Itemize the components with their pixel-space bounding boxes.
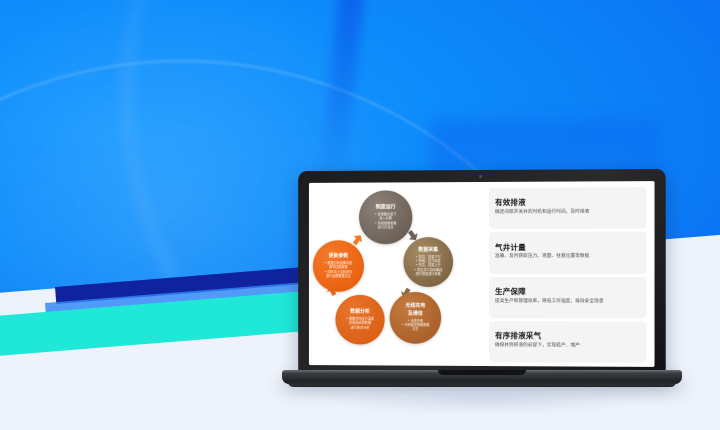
slide-content: 制度运行 • 多参数约束下 放入井筒 • 系统按照参数 进行开关井 数据采集 bbox=[309, 181, 655, 367]
diagram-node-data-collection[interactable]: 数据采集 • 关井、控量下沉 • 停喷、压力恢复 • 开井、控量上升 • 到达井… bbox=[403, 237, 453, 287]
card-description: 提高生产和管理效率，降低工作强度，排除安全隐患 bbox=[495, 299, 640, 306]
node-title: 制度运行 bbox=[376, 205, 396, 211]
diagram-node-data-analysis[interactable]: 数据分析 • 根据井内压力温度 和液面运算数据 进行综合分析 bbox=[335, 295, 384, 345]
card-description: 确定间歇开关井的时机和运行时间，及时排液 bbox=[495, 210, 640, 217]
node-title: 数据分析 bbox=[350, 310, 370, 316]
laptop-screen-bezel: 制度运行 • 多参数约束下 放入井筒 • 系统按照参数 进行开关井 数据采集 bbox=[298, 169, 666, 377]
node-title: 数据采集 bbox=[418, 248, 438, 254]
node-item: 交互 bbox=[401, 327, 429, 331]
diagram-node-update-parameters[interactable]: 更新参数 • 根据分析结果动态 调节控制参数 • 同时向上位机软件 进行远程数据… bbox=[313, 240, 364, 292]
node-items: • 根据井内压力温度 和液面运算数据 进行综合分析 bbox=[346, 317, 374, 330]
benefit-card-effective-drainage[interactable]: 有效排液 确定间歇开关井的时机和运行时间，及时排液 bbox=[489, 187, 646, 229]
benefit-card-production-assurance[interactable]: 生产保障 提高生产和管理效率，降低工作强度，排除安全隐患 bbox=[489, 277, 646, 319]
node-items: • 关井、控量下沉 • 停喷、压力恢复 • 开井、控量上升 • 到达井口自动离线… bbox=[414, 255, 442, 277]
node-item: 调节控制参数 bbox=[324, 265, 352, 269]
benefit-card-orderly-drainage-gas-production[interactable]: 有序排液采气 确保井筒积液的前提下，实现稳产、增产 bbox=[489, 321, 646, 363]
webcam-icon bbox=[479, 175, 482, 178]
node-title: 无线充电 bbox=[405, 304, 425, 310]
node-items: • 根据分析结果动态 调节控制参数 • 同时向上位机软件 进行远程数据交互 bbox=[324, 261, 352, 278]
node-title-line2: 及通信 bbox=[408, 311, 423, 317]
node-item: 进行开关井 bbox=[375, 225, 397, 229]
diagram-node-wireless-charging[interactable]: 无线充电 及通信 • 无线充电 • 与地面控制器数据 交互 bbox=[390, 292, 442, 344]
benefit-card-gas-well-metering[interactable]: 气井计量 准确、及时获取压力、液面、柱塞位置等数据 bbox=[489, 232, 646, 274]
diagram-node-system-operation[interactable]: 制度运行 • 多参数约束下 放入井筒 • 系统按照参数 进行开关井 bbox=[359, 190, 412, 244]
banner-stage: 制度运行 • 多参数约束下 放入井筒 • 系统按照参数 进行开关井 数据采集 bbox=[0, 0, 720, 430]
node-items: • 多参数约束下 放入井筒 • 系统按照参数 进行开关井 bbox=[375, 212, 397, 229]
node-item: 进行综合分析 bbox=[346, 325, 374, 329]
node-item: 进行排液进行采集 bbox=[414, 272, 442, 276]
laptop-reflection bbox=[322, 388, 642, 414]
node-item: 进行远程数据交互 bbox=[324, 274, 352, 278]
laptop-display: 制度运行 • 多参数约束下 放入井筒 • 系统按照参数 进行开关井 数据采集 bbox=[309, 181, 655, 367]
node-title: 更新参数 bbox=[329, 254, 349, 260]
laptop-base-foot bbox=[288, 382, 676, 387]
node-items: • 无线充电 • 与地面控制器数据 交互 bbox=[401, 319, 429, 332]
card-description: 准确、及时获取压力、液面、柱塞位置等数据 bbox=[495, 254, 640, 261]
card-description: 确保井筒积液的前提下，实现稳产、增产 bbox=[495, 343, 640, 350]
card-title: 有效排液 bbox=[495, 199, 640, 208]
card-title: 生产保障 bbox=[495, 288, 640, 296]
benefit-card-list: 有效排液 确定间歇开关井的时机和运行时间，及时排液 气井计量 准确、及时获取压力… bbox=[487, 181, 655, 367]
cycle-diagram: 制度运行 • 多参数约束下 放入井筒 • 系统按照参数 进行开关井 数据采集 bbox=[309, 182, 487, 366]
card-title: 有序排液采气 bbox=[495, 332, 640, 341]
laptop-mockup: 制度运行 • 多参数约束下 放入井筒 • 系统按照参数 进行开关井 数据采集 bbox=[282, 170, 682, 400]
card-title: 气井计量 bbox=[495, 243, 640, 252]
